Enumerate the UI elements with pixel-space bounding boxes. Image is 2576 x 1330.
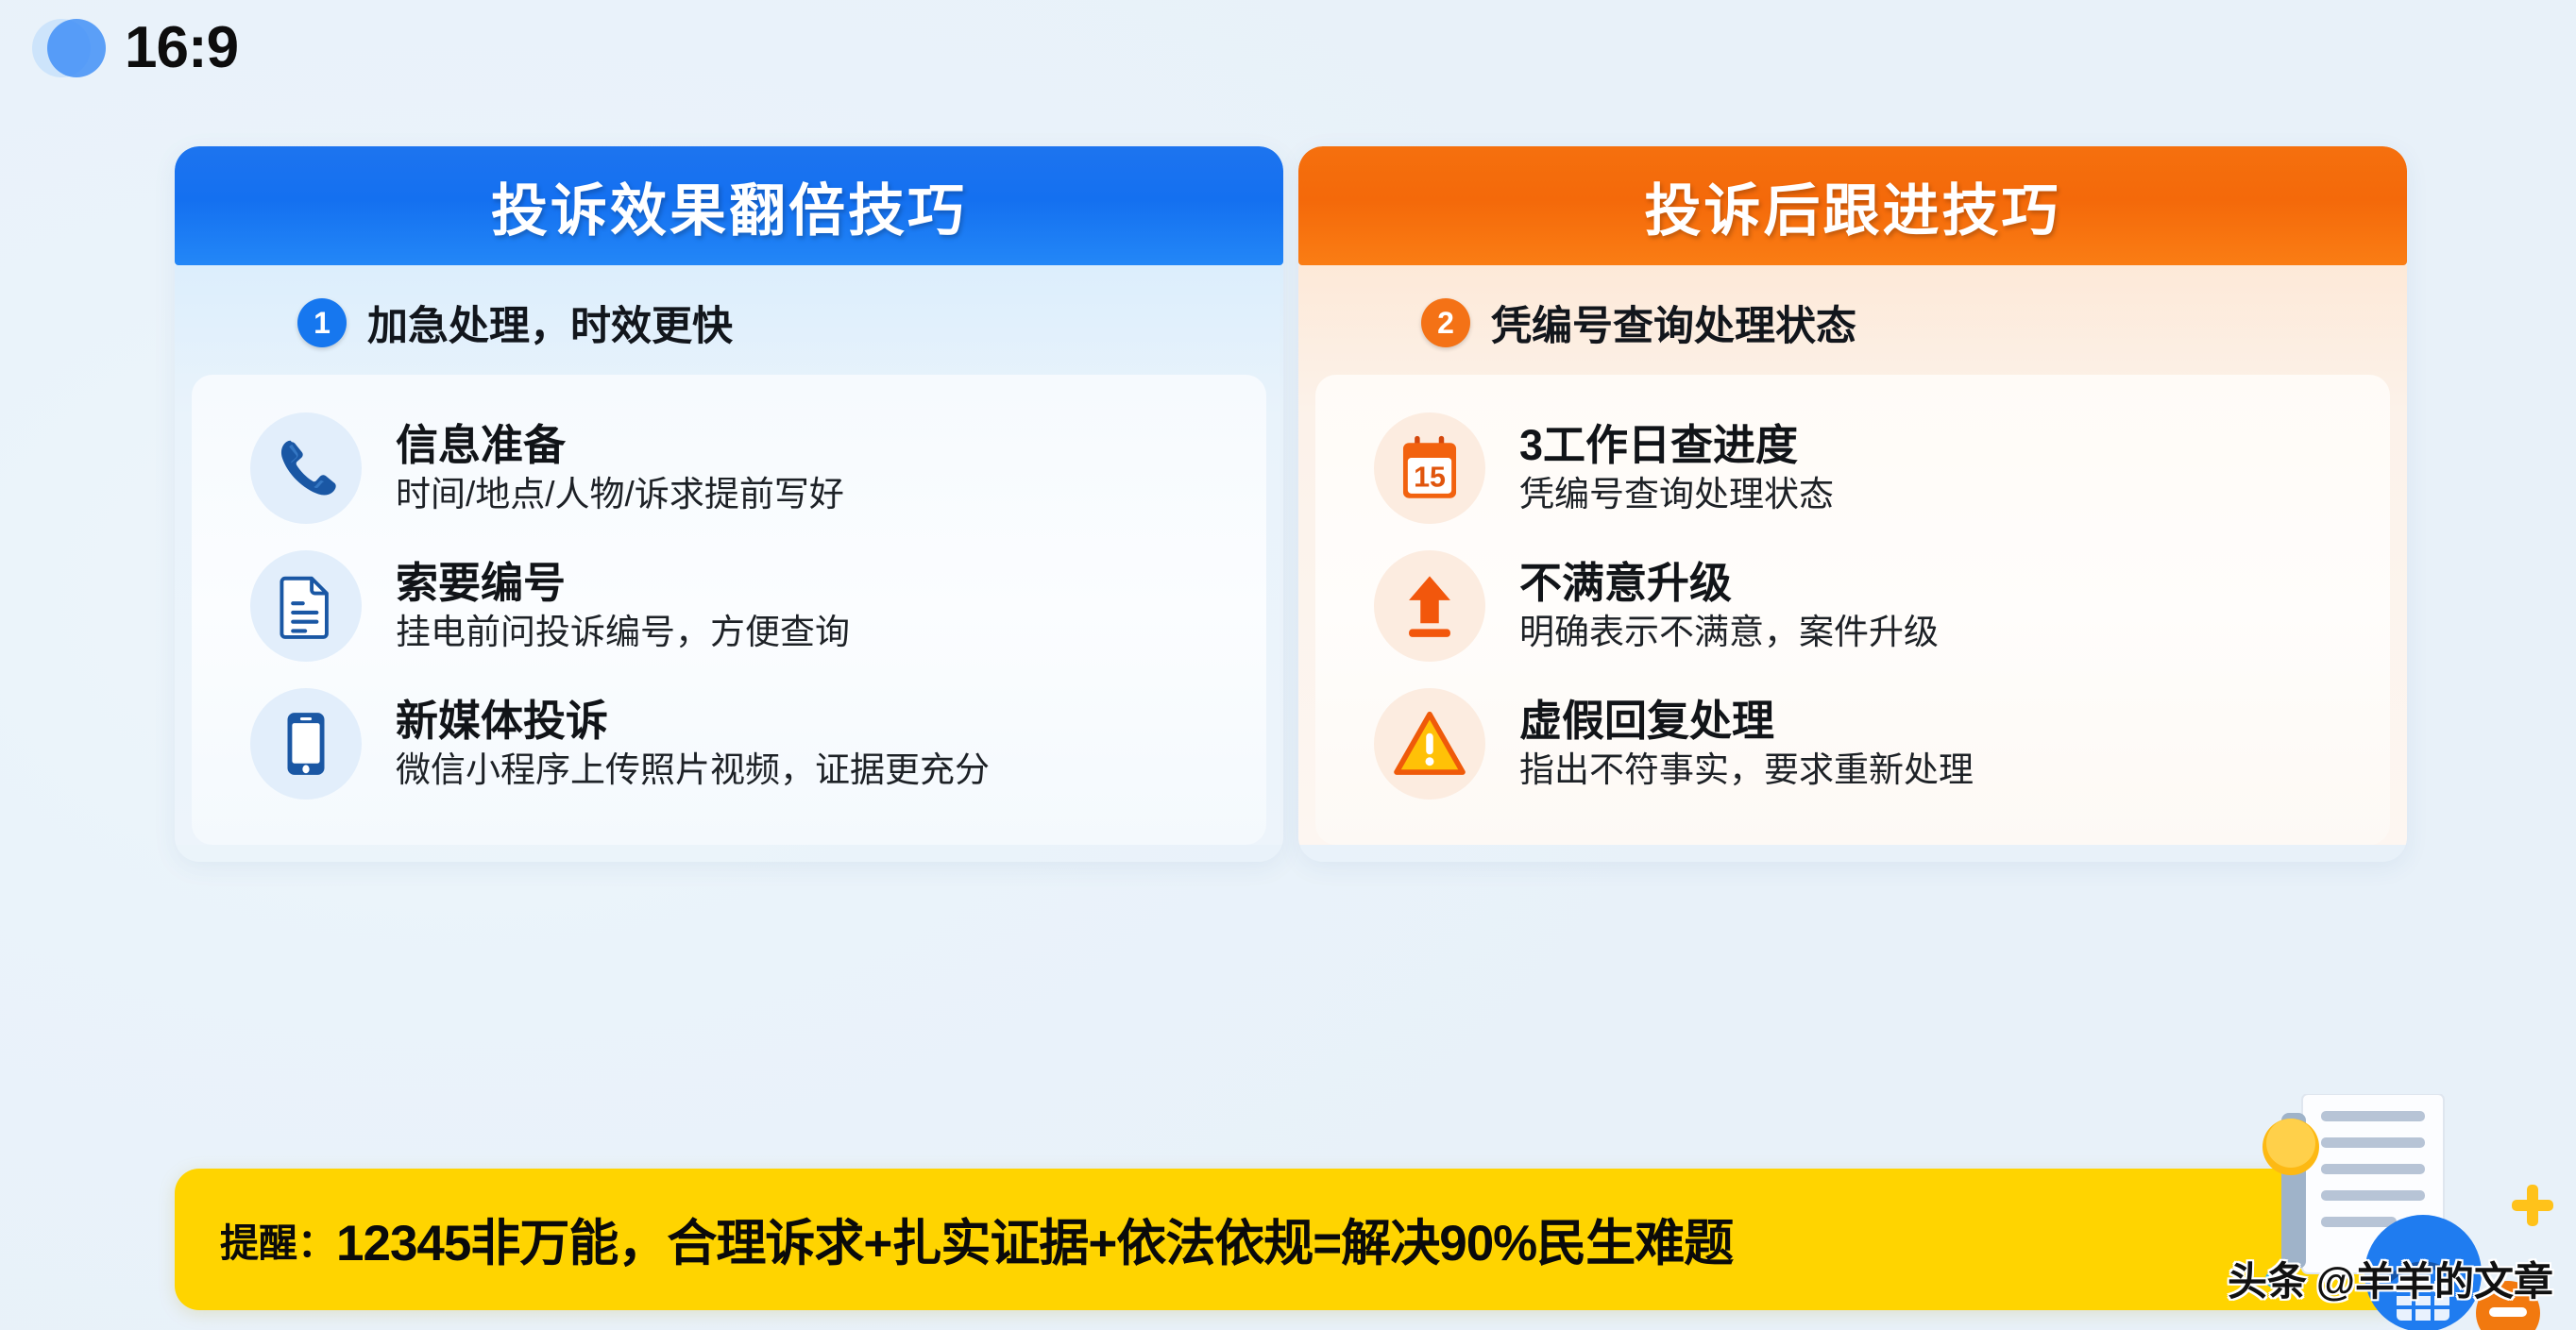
feature-text: 虚假回复处理 指出不符事实，要求重新处理 <box>1519 696 1974 791</box>
feature-desc: 指出不符事实，要求重新处理 <box>1519 749 1974 791</box>
card-followup-tips: 投诉后跟进技巧 2 凭编号查询处理状态 <box>1298 146 2407 862</box>
feature-item: 不满意升级 明确表示不满意，案件升级 <box>1315 537 2390 675</box>
feature-item: 新媒体投诉 微信小程序上传照片视频，证据更充分 <box>192 675 1266 813</box>
feature-panel: 15 3工作日查进度 凭编号查询处理状态 <box>1315 375 2390 845</box>
lead-row: 2 凭编号查询处理状态 <box>1298 265 2407 375</box>
warning-triangle-icon <box>1374 688 1485 800</box>
lead-text: 加急处理，时效更快 <box>367 294 733 352</box>
card-body-blue: 1 加急处理，时效更快 信息 <box>175 265 1283 845</box>
watermark-handle: @羊羊的文章 <box>2316 1250 2553 1307</box>
card-header-orange: 投诉后跟进技巧 <box>1298 146 2407 265</box>
feature-title: 3工作日查进度 <box>1519 420 1834 470</box>
lead-number-badge: 2 <box>1421 298 1470 347</box>
card-body-orange: 2 凭编号查询处理状态 15 <box>1298 265 2407 845</box>
feature-text: 新媒体投诉 微信小程序上传照片视频，证据更充分 <box>396 696 990 791</box>
watermark: 头条 @羊羊的文章 <box>2228 1250 2553 1307</box>
arrow-up-icon <box>1374 550 1485 662</box>
feature-item: 15 3工作日查进度 凭编号查询处理状态 <box>1315 399 2390 537</box>
reminder-prefix: 提醒： <box>220 1211 336 1268</box>
feature-item: 虚假回复处理 指出不符事实，要求重新处理 <box>1315 675 2390 813</box>
lead-text: 凭编号查询处理状态 <box>1491 294 1856 352</box>
slide-canvas: 16:9 投诉效果翻倍技巧 1 加急处理，时效更快 <box>0 0 2576 1330</box>
document-icon <box>250 550 362 662</box>
feature-title: 不满意升级 <box>1519 558 1939 608</box>
feature-title: 索要编号 <box>396 558 850 608</box>
feature-item: 索要编号 挂电前问投诉编号，方便查询 <box>192 537 1266 675</box>
card-columns: 投诉效果翻倍技巧 1 加急处理，时效更快 <box>175 146 2407 862</box>
feature-desc: 微信小程序上传照片视频，证据更充分 <box>396 749 990 791</box>
feature-text: 信息准备 时间/地点/人物/诉求提前写好 <box>396 420 844 515</box>
card-title: 投诉效果翻倍技巧 <box>491 165 967 247</box>
two-overlapping-circles-icon <box>32 19 106 77</box>
calendar-icon: 15 <box>1374 412 1485 524</box>
feature-text: 索要编号 挂电前问投诉编号，方便查询 <box>396 558 850 653</box>
feature-desc: 凭编号查询处理状态 <box>1519 474 1834 515</box>
feature-desc: 时间/地点/人物/诉求提前写好 <box>396 474 844 515</box>
feature-item: 信息准备 时间/地点/人物/诉求提前写好 <box>192 399 1266 537</box>
brand-row: 16:9 <box>32 8 238 89</box>
feature-title: 虚假回复处理 <box>1519 696 1974 746</box>
feature-text: 3工作日查进度 凭编号查询处理状态 <box>1519 420 1834 515</box>
watermark-platform: 头条 <box>2228 1250 2307 1307</box>
calendar-day-label: 15 <box>1414 462 1446 494</box>
phone-icon <box>250 412 362 524</box>
aspect-ratio-label: 16:9 <box>125 19 238 77</box>
feature-text: 不满意升级 明确表示不满意，案件升级 <box>1519 558 1939 653</box>
feature-title: 新媒体投诉 <box>396 696 990 746</box>
feature-title: 信息准备 <box>396 420 844 470</box>
feature-desc: 挂电前问投诉编号，方便查询 <box>396 612 850 653</box>
reminder-text: 12345非万能，合理诉求+扎实证据+依法依规=解决90%民生难题 <box>336 1204 1733 1275</box>
card-header-blue: 投诉效果翻倍技巧 <box>175 146 1283 265</box>
feature-desc: 明确表示不满意，案件升级 <box>1519 612 1939 653</box>
feature-panel: 信息准备 时间/地点/人物/诉求提前写好 <box>192 375 1266 845</box>
card-complaint-tips: 投诉效果翻倍技巧 1 加急处理，时效更快 <box>175 146 1283 862</box>
lead-row: 1 加急处理，时效更快 <box>175 265 1283 375</box>
reminder-banner: 提醒： 12345非万能，合理诉求+扎实证据+依法依规=解决90%民生难题 <box>175 1169 2407 1310</box>
lead-number-badge: 1 <box>297 298 347 347</box>
smartphone-icon <box>250 688 362 800</box>
card-title: 投诉后跟进技巧 <box>1645 165 2061 247</box>
